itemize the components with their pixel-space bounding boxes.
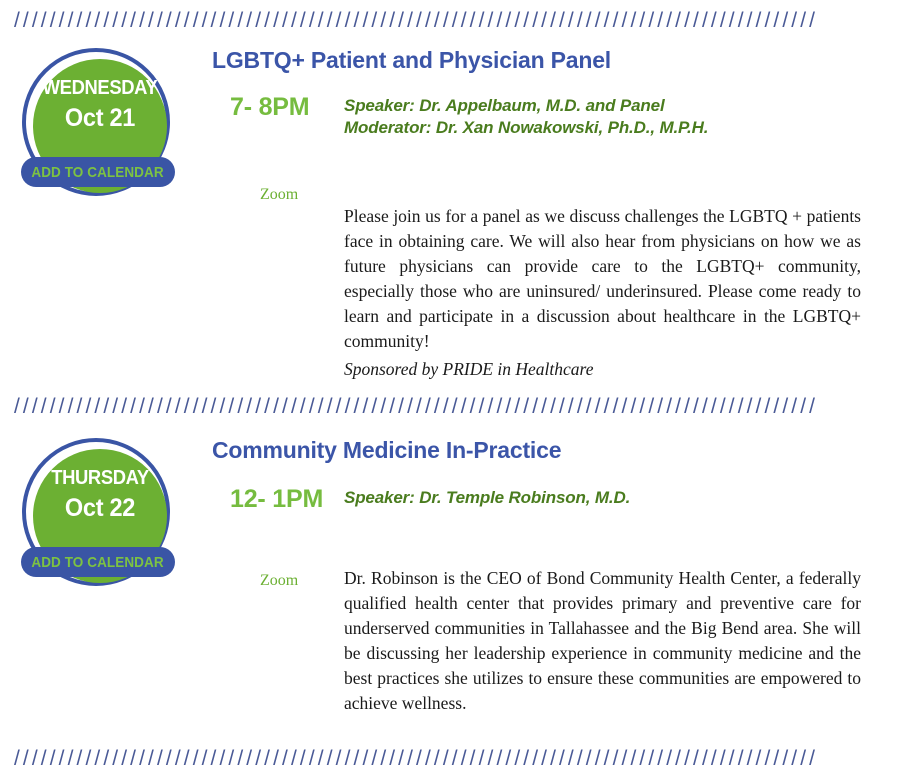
event-platform-label: Zoom [260, 572, 298, 590]
event-sponsor: Sponsored by PRIDE in Healthcare [344, 357, 861, 382]
event-description-block: Please join us for a panel as we discuss… [344, 204, 861, 382]
event-speaker: Speaker: Dr. Appelbaum, M.D. and Panel [344, 95, 864, 117]
event-platform-label: Zoom [260, 186, 298, 204]
event-speaker: Speaker: Dr. Temple Robinson, M.D. [344, 487, 864, 509]
badge-weekday: THURSDAY [38, 468, 161, 488]
badge-date-text: THURSDAY Oct 22 [33, 468, 167, 521]
add-to-calendar-button[interactable]: ADD TO CALENDAR [21, 157, 175, 187]
event-details: Community Medicine In-Practice 12- 1PM S… [212, 438, 872, 531]
badge-month-day: Oct 21 [37, 106, 163, 131]
section-divider-top: ////////////////////////////////////////… [14, 10, 846, 32]
event-time: 7- 8PM [230, 93, 309, 122]
badge-month-day: Oct 22 [37, 496, 163, 521]
section-divider-bottom: ////////////////////////////////////////… [14, 748, 846, 770]
event-speaker-list: Speaker: Dr. Appelbaum, M.D. and Panel M… [344, 95, 864, 139]
add-to-calendar-button[interactable]: ADD TO CALENDAR [21, 547, 175, 577]
add-to-calendar-label: ADD TO CALENDAR [32, 164, 164, 181]
section-divider-middle: ////////////////////////////////////////… [14, 396, 846, 418]
date-badge: THURSDAY Oct 22 ADD TO CALENDAR [22, 438, 178, 594]
event-title: LGBTQ+ Patient and Physician Panel [212, 48, 872, 73]
event-details: LGBTQ+ Patient and Physician Panel 7- 8P… [212, 48, 872, 139]
event-title: Community Medicine In-Practice [212, 438, 872, 463]
event-time-speaker-row: 7- 8PM Speaker: Dr. Appelbaum, M.D. and … [212, 93, 872, 139]
event-description: Dr. Robinson is the CEO of Bond Communit… [344, 568, 861, 713]
badge-date-text: WEDNESDAY Oct 21 [33, 78, 167, 131]
date-badge: WEDNESDAY Oct 21 ADD TO CALENDAR [22, 48, 178, 204]
event-speaker-list: Speaker: Dr. Temple Robinson, M.D. [344, 487, 864, 509]
event-time-speaker-row: 12- 1PM Speaker: Dr. Temple Robinson, M.… [212, 485, 872, 531]
event-moderator: Moderator: Dr. Xan Nowakowski, Ph.D., M.… [344, 117, 864, 139]
badge-weekday: WEDNESDAY [38, 78, 161, 98]
event-time: 12- 1PM [230, 485, 323, 514]
event-description: Please join us for a panel as we discuss… [344, 206, 861, 351]
event-description-block: Dr. Robinson is the CEO of Bond Communit… [344, 566, 861, 716]
add-to-calendar-label: ADD TO CALENDAR [32, 554, 164, 571]
